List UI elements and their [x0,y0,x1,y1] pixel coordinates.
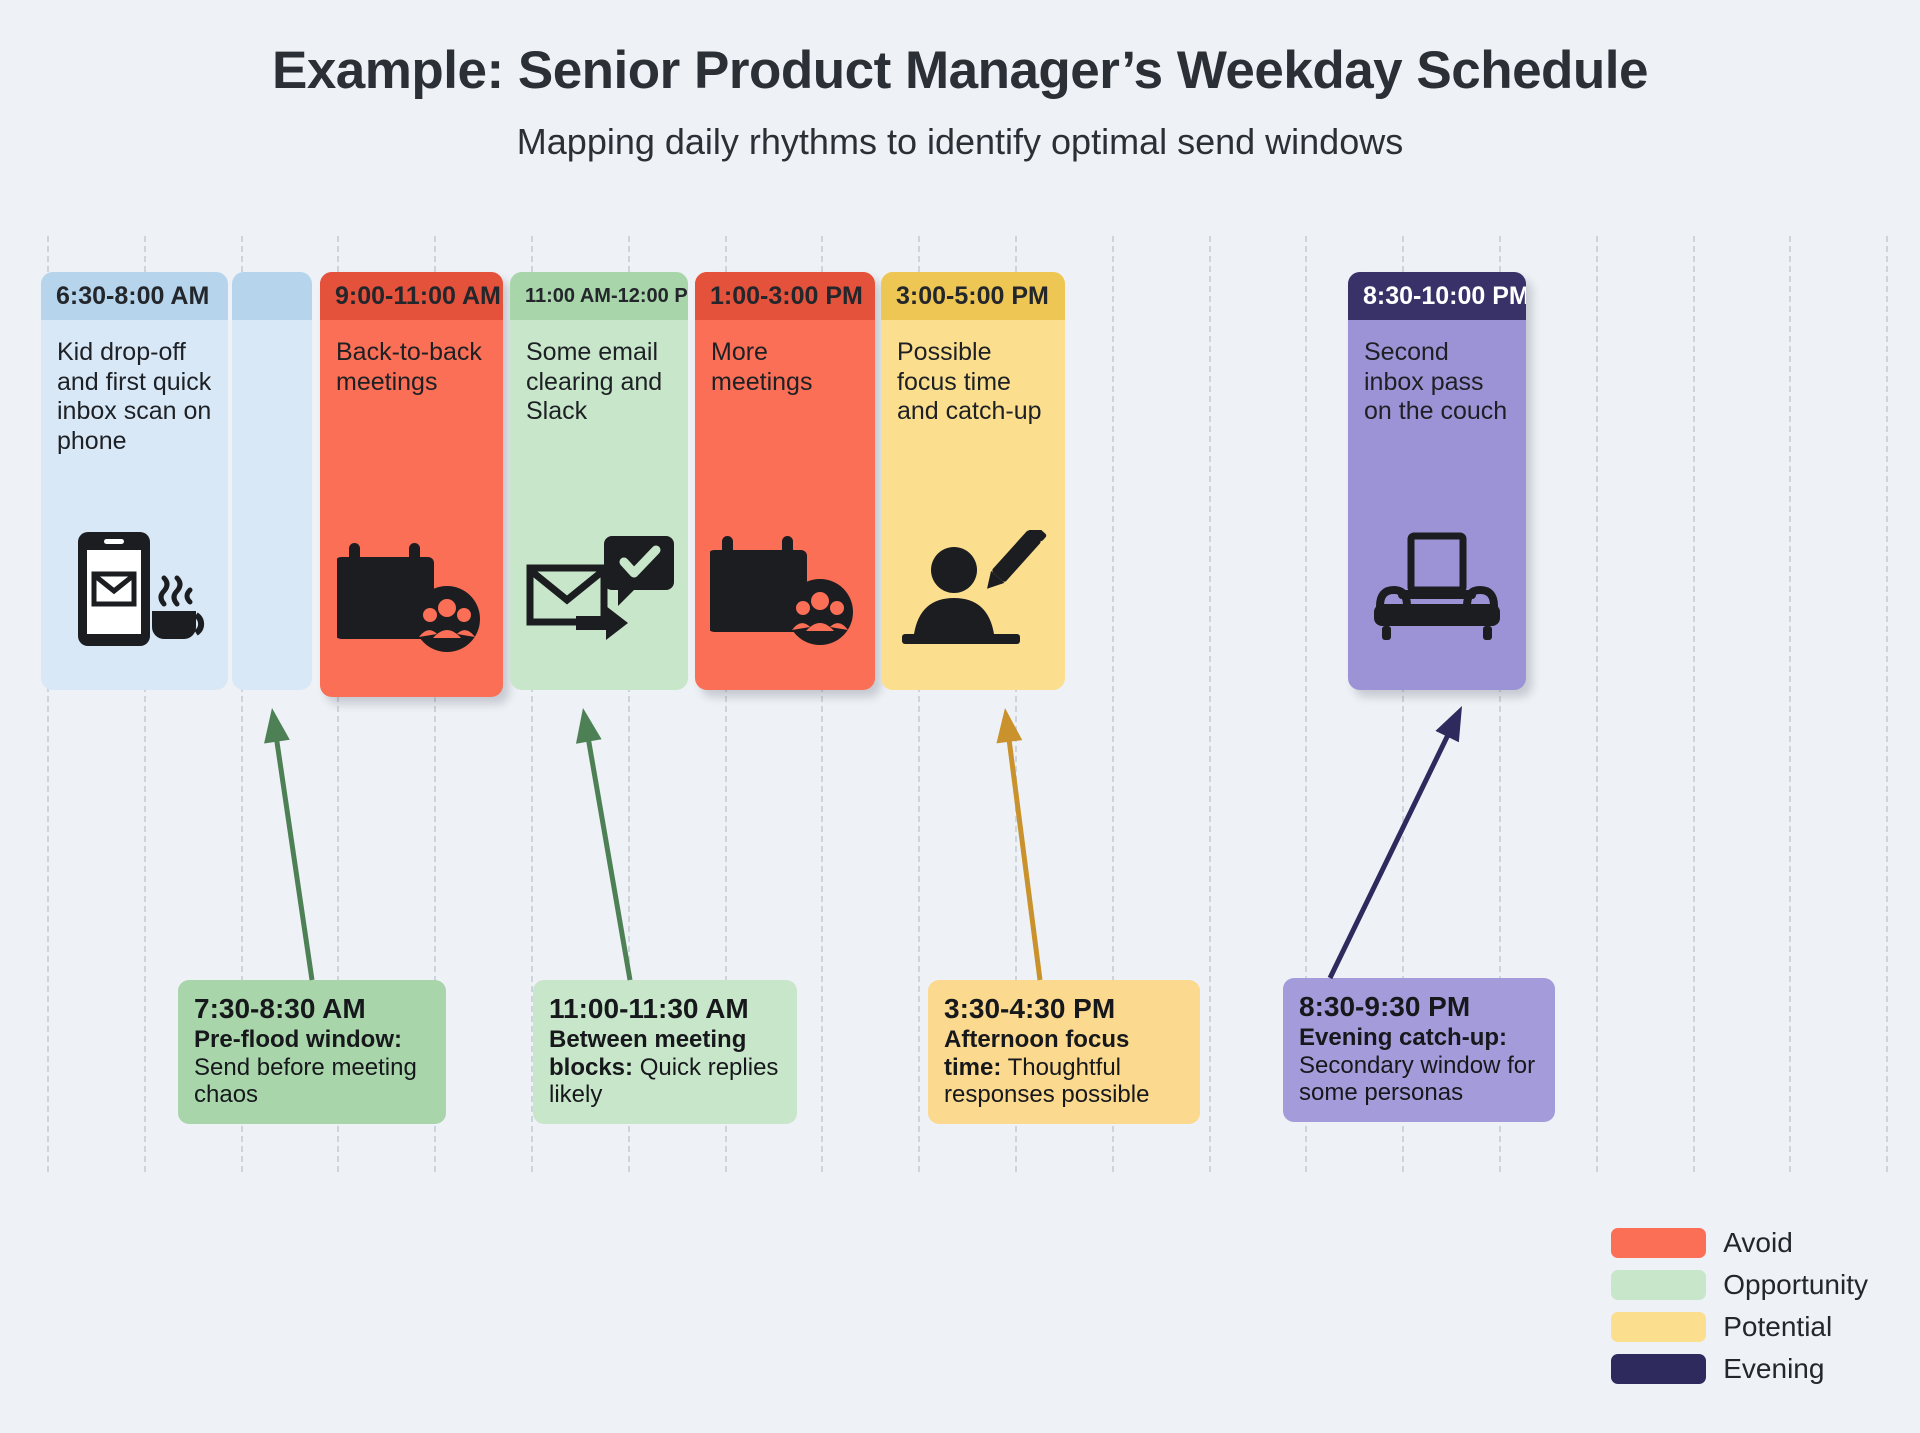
timeline: 6:30-8:00 AMKid drop-off and first quick… [0,0,1920,1433]
legend-swatch [1611,1270,1706,1300]
timeline-block-morning-routine[interactable]: 6:30-8:00 AMKid drop-off and first quick… [41,272,228,690]
timeline-block-email-clearing[interactable]: 11:00 AM-12:00 PMSome email clearing and… [510,272,688,690]
annotation-lead: Afternoon focus time: [944,1026,1129,1080]
timeline-block-evening-inbox[interactable]: 8:30-10:00 PMSecond inbox pass on the co… [1348,272,1526,690]
timeline-block-time [232,272,312,320]
annotation-afternoon-focus-time[interactable]: 3:30-4:30 PMAfternoon focus time: Though… [928,980,1200,1124]
timeline-block-body: Some email clearing and Slack [510,320,688,690]
timeline-block-body: Back-to-back meetings [320,320,503,697]
timeline-block-body: Possible focus time and catch-up [881,320,1065,690]
timeline-block-description: Some email clearing and Slack [526,338,672,427]
timeline-block-back-to-back-meetings[interactable]: 9:00-11:00 AMBack-to-back meetings [320,272,503,697]
timeline-block-time: 11:00 AM-12:00 PM [510,272,688,320]
timeline-block-description: Kid drop-off and first quick inbox scan … [57,338,212,456]
timeline-block-commute-gap[interactable] [232,272,312,690]
legend-label: Opportunity [1723,1269,1868,1301]
timeline-block-description: Possible focus time and catch-up [897,338,1049,427]
annotation-text: Afternoon focus time: Thoughtful respons… [944,1026,1184,1108]
timeline-block-time: 1:00-3:00 PM [695,272,875,320]
annotation-text: Between meeting blocks: Quick replies li… [549,1026,781,1108]
person-writing-icon [881,530,1065,648]
legend-item: Avoid [1611,1227,1793,1259]
phone-email-coffee-icon [41,528,228,648]
annotation-between-meeting-blocks[interactable]: 11:00-11:30 AMBetween meeting blocks: Qu… [533,980,797,1124]
annotation-text: Pre-flood window: Send before meeting ch… [194,1026,430,1108]
timeline-block-time: 3:00-5:00 PM [881,272,1065,320]
calendar-meeting-icon [695,530,875,648]
legend: AvoidOpportunityPotentialEvening [1611,1227,1868,1385]
annotation-time: 7:30-8:30 AM [194,993,430,1024]
annotation-time: 11:00-11:30 AM [549,993,781,1024]
legend-swatch [1611,1228,1706,1258]
timeline-block-body: More meetings [695,320,875,690]
timeline-block-focus-time[interactable]: 3:00-5:00 PMPossible focus time and catc… [881,272,1065,690]
legend-item: Opportunity [1611,1269,1868,1301]
legend-label: Potential [1723,1311,1832,1343]
annotation-lead: Evening catch-up: [1299,1024,1507,1051]
timeline-block-description: Back-to-back meetings [336,338,487,397]
legend-swatch [1611,1312,1706,1342]
annotation-evening-catch-up[interactable]: 8:30-9:30 PMEvening catch-up: Secondary … [1283,978,1555,1122]
legend-label: Avoid [1723,1227,1793,1259]
annotation-time: 8:30-9:30 PM [1299,991,1539,1022]
annotation-lead: Between meeting blocks: [549,1026,746,1080]
timeline-block-time: 9:00-11:00 AM [320,272,503,320]
timeline-block-more-meetings[interactable]: 1:00-3:00 PMMore meetings [695,272,875,690]
email-reply-check-icon [510,530,688,648]
legend-label: Evening [1723,1353,1824,1385]
timeline-block-time: 8:30-10:00 PM [1348,272,1526,320]
timeline-block-body: Kid drop-off and first quick inbox scan … [41,320,228,690]
timeline-block-body [232,320,312,690]
timeline-block-description: Second inbox pass on the couch [1364,338,1510,427]
timeline-block-body: Second inbox pass on the couch [1348,320,1526,690]
annotation-pre-flood-window[interactable]: 7:30-8:30 AMPre-flood window: Send befor… [178,980,446,1124]
timeline-block-description: More meetings [711,338,859,397]
legend-swatch [1611,1354,1706,1384]
annotation-time: 3:30-4:30 PM [944,993,1184,1024]
legend-item: Potential [1611,1311,1832,1343]
legend-item: Evening [1611,1353,1824,1385]
annotation-text: Evening catch-up: Secondary window for s… [1299,1024,1539,1106]
laptop-couch-icon [1348,530,1526,648]
annotation-lead: Pre-flood window: [194,1026,402,1053]
calendar-meeting-icon [320,537,503,655]
timeline-block-time: 6:30-8:00 AM [41,272,228,320]
